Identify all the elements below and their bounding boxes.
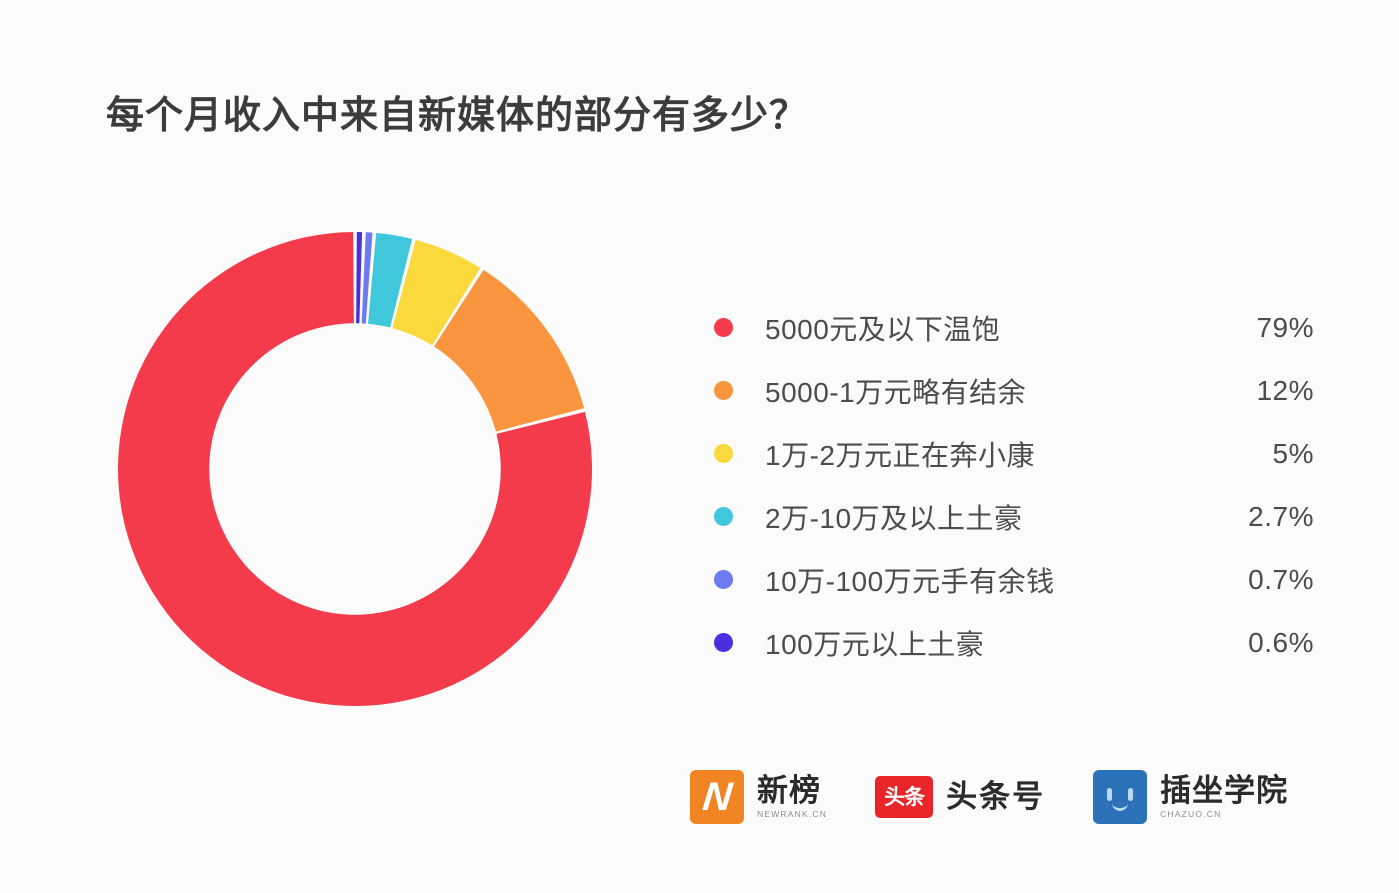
legend-item-label: 5000-1万元略有结余 — [765, 371, 1196, 411]
legend-item-value: 5% — [1196, 438, 1314, 470]
legend-color-swatch-icon — [714, 444, 733, 463]
donut-chart-svg — [118, 232, 592, 706]
newrank-logo-icon: N — [690, 770, 744, 824]
donut-chart — [118, 232, 592, 706]
legend-item[interactable]: 5000-1万元略有结余 12% — [714, 359, 1314, 422]
legend-item-value: 0.6% — [1196, 627, 1314, 659]
legend-item-label: 10万-100万元手有余钱 — [765, 560, 1196, 600]
legend-item-value: 79% — [1196, 312, 1314, 344]
legend-item-value: 2.7% — [1196, 501, 1314, 533]
legend-color-swatch-icon — [714, 318, 733, 337]
legend-item[interactable]: 5000元及以下温饱 79% — [714, 296, 1314, 359]
chart-legend: 5000元及以下温饱 79% 5000-1万元略有结余 12% 1万-2万元正在… — [714, 296, 1314, 674]
logo-chazuo: 插坐学院 CHAZUO.CN — [1093, 770, 1288, 824]
legend-color-swatch-icon — [714, 507, 733, 526]
legend-item-value: 12% — [1196, 375, 1314, 407]
donut-slice[interactable] — [356, 232, 362, 323]
legend-color-swatch-icon — [714, 633, 733, 652]
toutiaohao-logo-icon: 头条 — [875, 776, 933, 818]
newrank-logo-subtitle: NEWRANK.CN — [757, 809, 827, 819]
logo-toutiaohao: 头条 头条号 — [875, 776, 1045, 818]
chazuo-logo-icon — [1093, 770, 1147, 824]
donut-slice-group — [118, 232, 592, 706]
chazuo-logo-text: 插坐学院 CHAZUO.CN — [1160, 775, 1288, 820]
chazuo-mouth-icon — [1112, 802, 1128, 811]
footer-logo-row: N 新榜 NEWRANK.CN 头条 头条号 插坐学院 CHAZUO.CN — [690, 770, 1288, 824]
chazuo-logo-name: 插坐学院 — [1160, 775, 1288, 808]
legend-color-swatch-icon — [714, 570, 733, 589]
page-title: 每个月收入中来自新媒体的部分有多少？ — [106, 84, 808, 139]
newrank-logo-name: 新榜 — [757, 775, 827, 808]
legend-item[interactable]: 100万元以上土豪 0.6% — [714, 611, 1314, 674]
chazuo-eye-left-icon — [1107, 788, 1112, 801]
logo-newrank: N 新榜 NEWRANK.CN — [690, 770, 827, 824]
legend-item-label: 1万-2万元正在奔小康 — [765, 434, 1196, 474]
legend-color-swatch-icon — [714, 381, 733, 400]
legend-item[interactable]: 2万-10万及以上土豪 2.7% — [714, 485, 1314, 548]
newrank-mark-letter: N — [700, 777, 733, 817]
toutiaohao-mark-text: 头条 — [884, 787, 924, 808]
chazuo-eye-right-icon — [1128, 788, 1133, 801]
legend-item[interactable]: 10万-100万元手有余钱 0.7% — [714, 548, 1314, 611]
legend-item-label: 5000元及以下温饱 — [765, 308, 1196, 348]
newrank-logo-text: 新榜 NEWRANK.CN — [757, 775, 827, 820]
chazuo-logo-subtitle: CHAZUO.CN — [1160, 809, 1288, 819]
legend-item-value: 0.7% — [1196, 564, 1314, 596]
legend-item[interactable]: 1万-2万元正在奔小康 5% — [714, 422, 1314, 485]
legend-item-label: 2万-10万及以上土豪 — [765, 497, 1196, 537]
toutiaohao-logo-text: 头条号 — [946, 781, 1045, 814]
legend-item-label: 100万元以上土豪 — [765, 623, 1196, 663]
chazuo-face-icon — [1093, 770, 1147, 824]
toutiaohao-logo-name: 头条号 — [946, 781, 1045, 814]
